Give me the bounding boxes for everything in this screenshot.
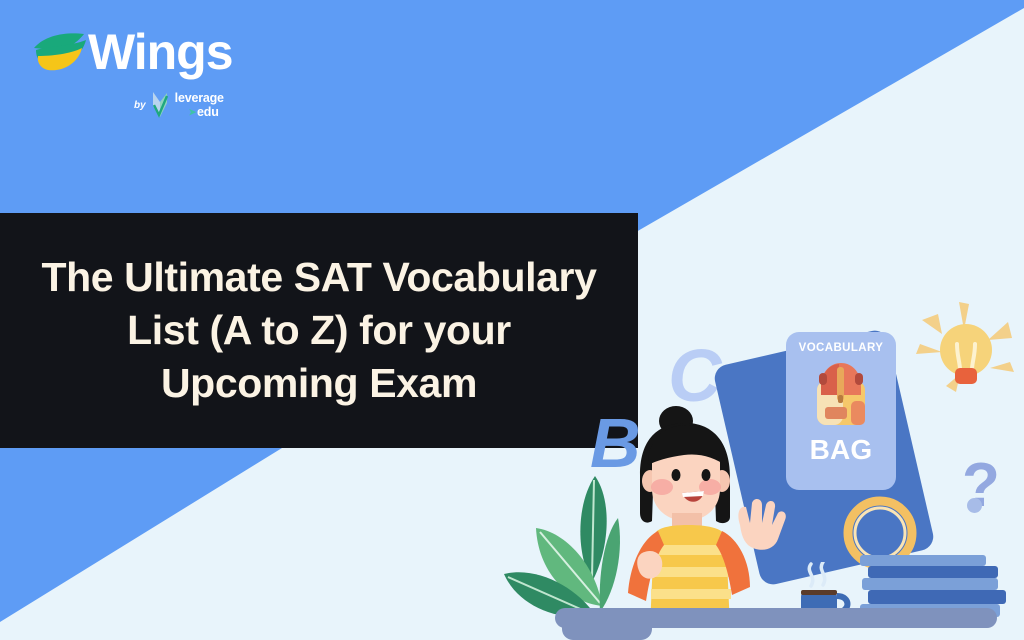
brand-name: Wings [88, 23, 233, 81]
page-title: The Ultimate SAT Vocabulary List (A to Z… [28, 251, 610, 411]
leverage-edu-wordmark: leverage ➤edu [175, 92, 224, 118]
edu-word: ➤edu [189, 106, 224, 119]
hero-title-panel: The Ultimate SAT Vocabulary List (A to Z… [0, 213, 638, 448]
book-item [868, 566, 998, 578]
shelf-bar [555, 608, 997, 628]
flashcard-header: VOCABULARY [799, 342, 884, 354]
question-mark-icon: ? [962, 450, 1000, 521]
lightbulb-icon [912, 300, 1018, 412]
decorative-dot [967, 498, 982, 513]
leverage-word: leverage [175, 92, 224, 105]
girl-character [610, 405, 810, 630]
book-item [868, 590, 1006, 604]
book-item [860, 555, 986, 566]
book-item [862, 578, 998, 590]
rocket-icon: ➤ [189, 107, 196, 117]
leverage-check-icon [150, 90, 170, 120]
backpack-icon [805, 357, 877, 433]
brand-logo[interactable]: Wings by leverage ➤edu [30, 28, 260, 138]
brand-byline: by leverage ➤edu [134, 90, 224, 120]
poster-canvas: Wings by leverage ➤edu The Ultimate SAT … [0, 0, 1024, 640]
by-label: by [134, 100, 146, 111]
flashcard-word: BAG [810, 434, 873, 466]
